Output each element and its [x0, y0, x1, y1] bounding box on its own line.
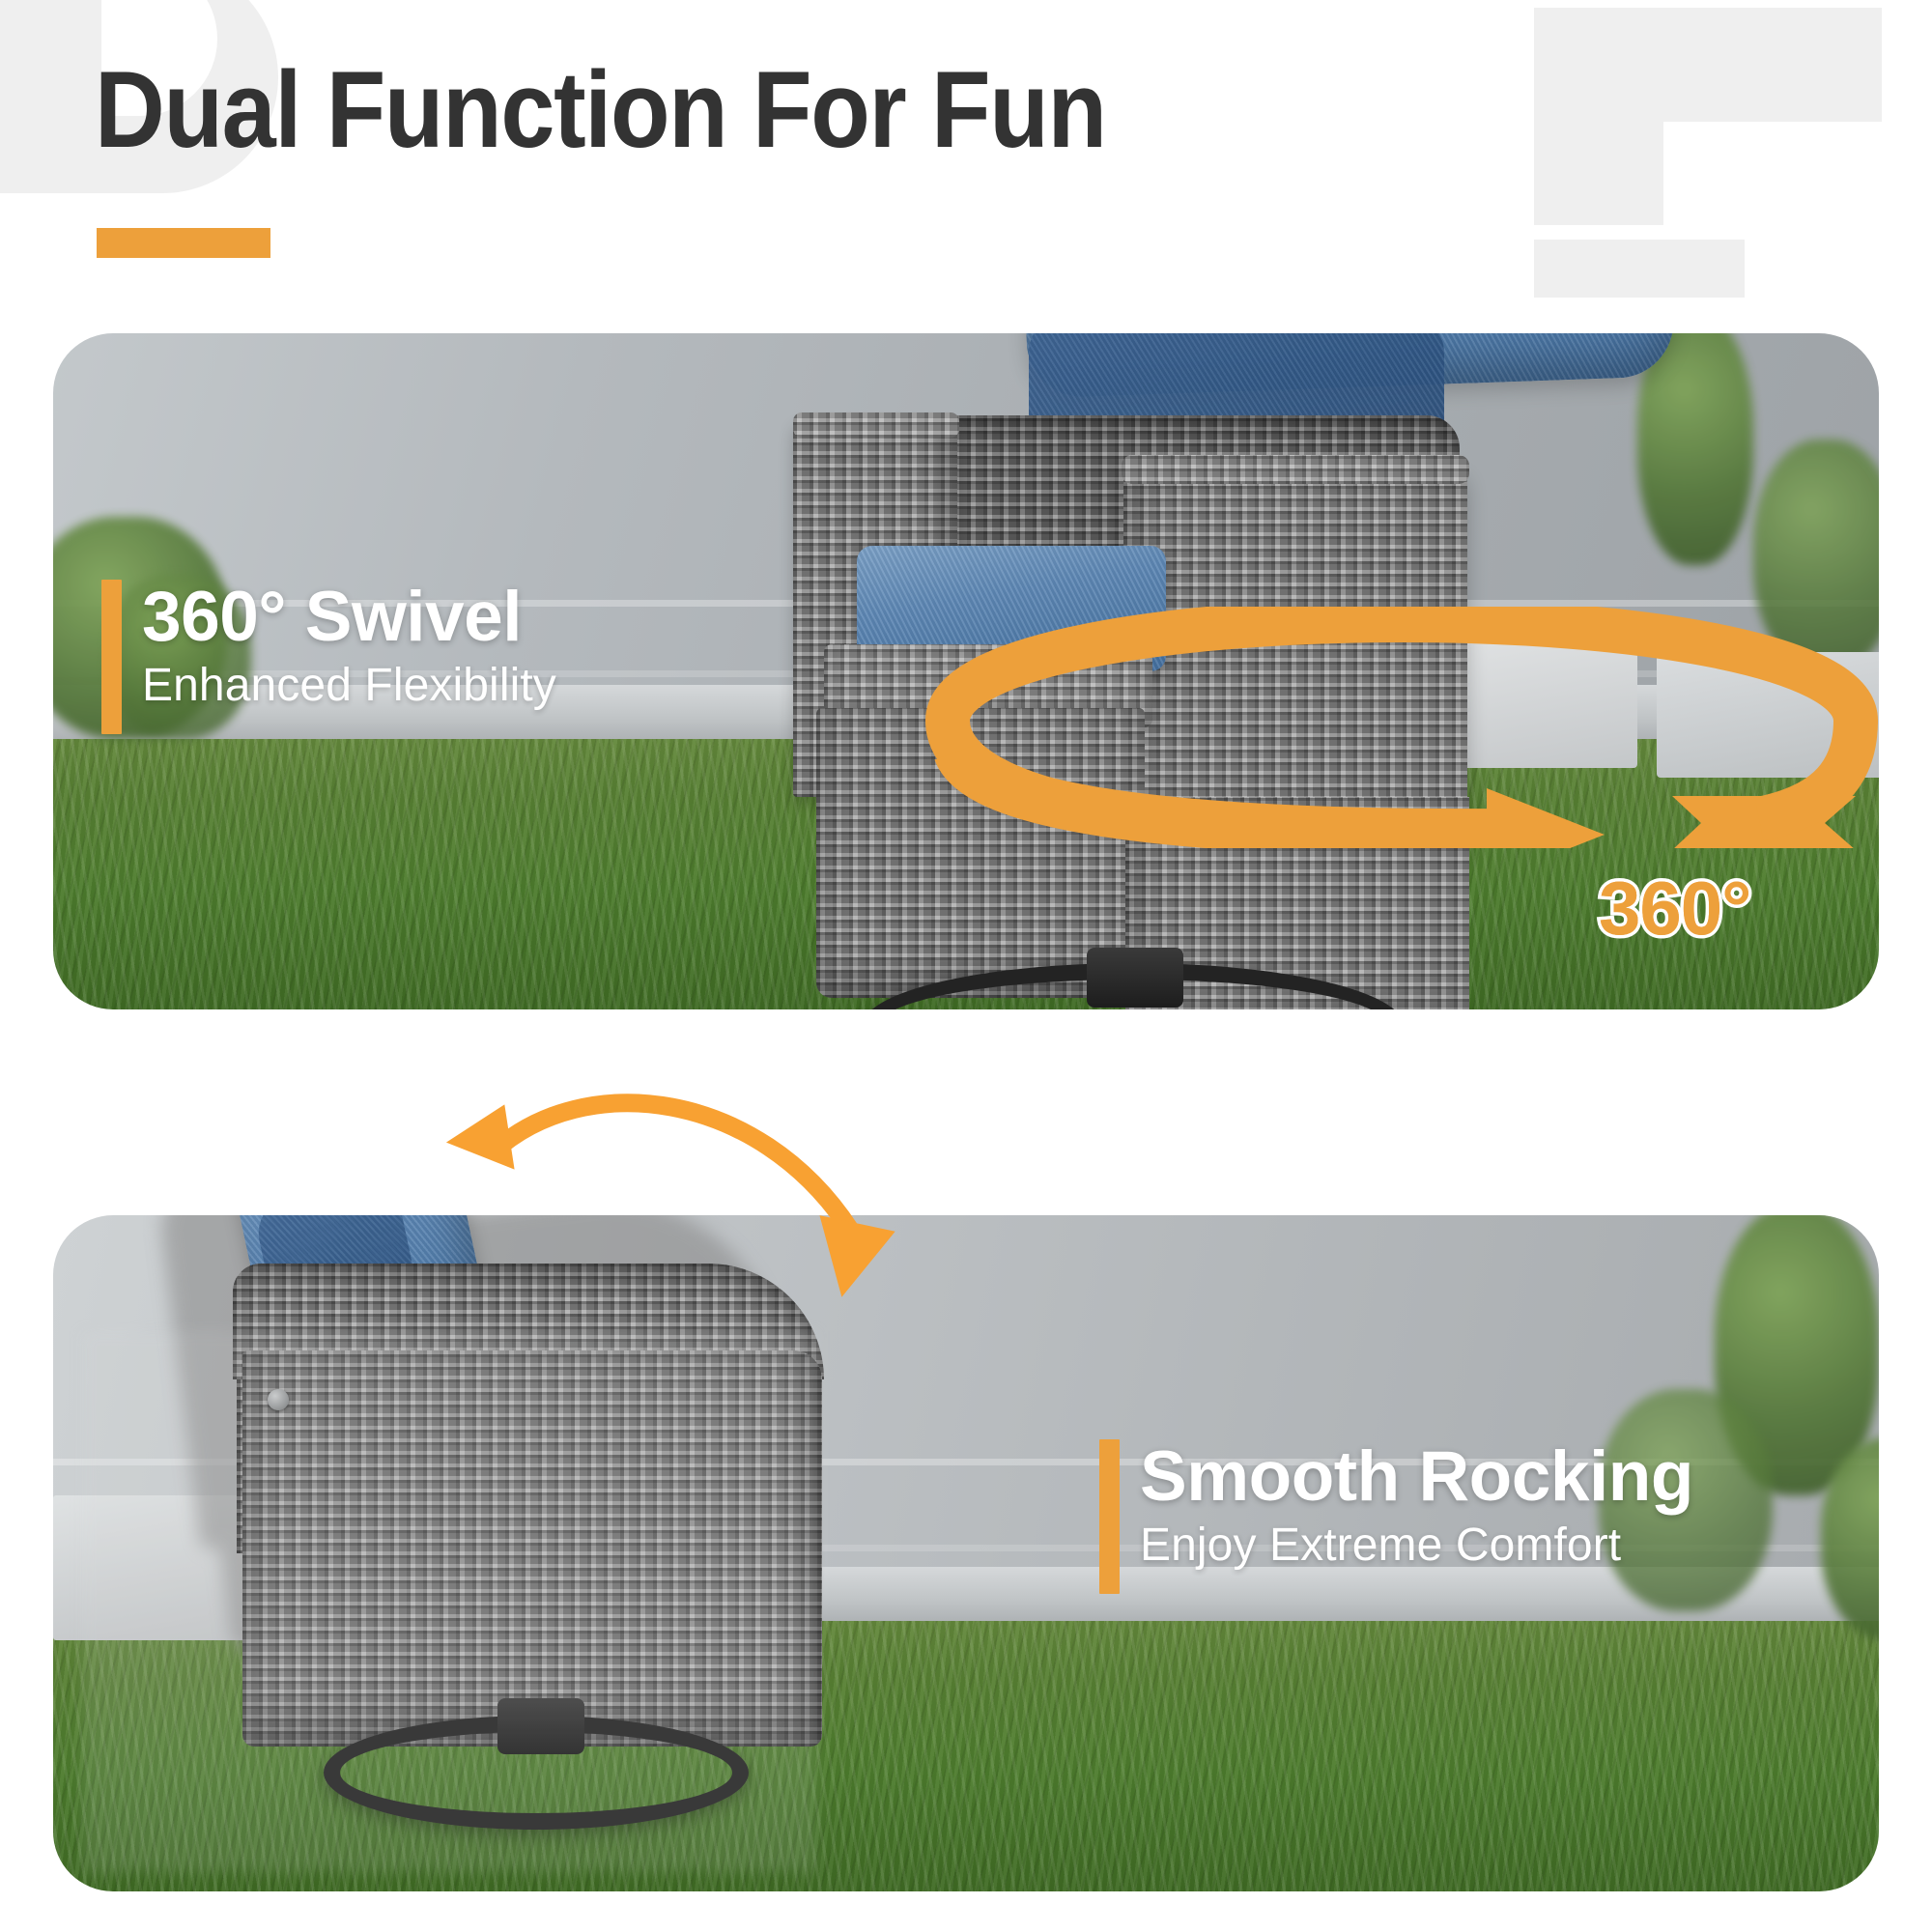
- rocker-base-post: [497, 1698, 584, 1754]
- rocking-chair-screw: [268, 1389, 289, 1410]
- feature-subtitle-swivel: Enhanced Flexibility: [142, 658, 556, 715]
- feature-panel-swivel: 360° 360° 360° Swivel Enhanced Flexibili…: [53, 333, 1879, 1009]
- feature-panel-rocking: Smooth Rocking Enjoy Extreme Comfort: [53, 1215, 1879, 1891]
- title-underline-accent: [97, 228, 270, 258]
- rotation-arrow-icon: [890, 607, 1879, 848]
- decorative-letter-f-mid-bar: [1534, 240, 1745, 298]
- chair-right-armrest-top: [1122, 455, 1469, 484]
- rocking-chair-side-body: [242, 1350, 822, 1747]
- feature-caption-swivel: 360° Swivel Enhanced Flexibility: [101, 580, 556, 734]
- accent-bar-rocking: [1099, 1439, 1120, 1594]
- accent-bar-swivel: [101, 580, 122, 734]
- page-title: Dual Function For Fun: [95, 56, 1106, 164]
- chair-left-armrest-top: [793, 412, 959, 438]
- decorative-letter-f-top-bar: [1534, 8, 1882, 122]
- badge-360-label: 360°: [1599, 865, 1750, 952]
- feature-caption-rocking: Smooth Rocking Enjoy Extreme Comfort: [1099, 1439, 1693, 1594]
- swivel-base-post: [1087, 948, 1183, 1008]
- feature-subtitle-rocking: Enjoy Extreme Comfort: [1140, 1518, 1693, 1575]
- feature-title-swivel: 360° Swivel: [142, 580, 556, 654]
- feature-title-rocking: Smooth Rocking: [1140, 1439, 1693, 1514]
- curved-rocking-arrow-icon: [440, 1061, 923, 1379]
